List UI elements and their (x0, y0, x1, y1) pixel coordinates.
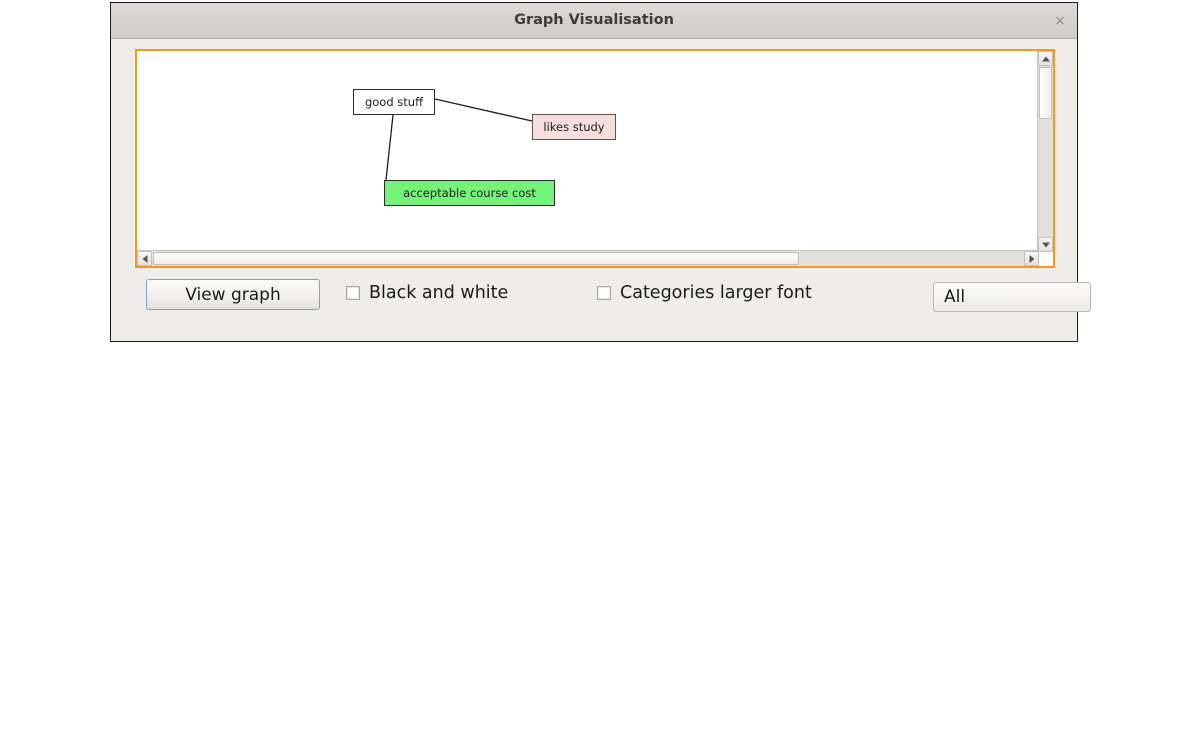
controls-bar: View graph Black and white Categories la… (111, 273, 1077, 319)
black-and-white-checkbox[interactable]: Black and white (346, 283, 508, 303)
vertical-scroll-thumb[interactable] (1039, 67, 1052, 119)
scroll-up-arrow-icon[interactable] (1038, 51, 1053, 66)
category-filter-select[interactable]: All (933, 282, 1091, 312)
triangle-down-glyph (1042, 242, 1050, 247)
graph-node-acceptable-course-cost[interactable]: acceptable course cost (384, 180, 555, 206)
triangle-left-glyph (142, 255, 147, 263)
graph-node-likes-study[interactable]: likes study (532, 114, 616, 140)
black-and-white-label: Black and white (369, 283, 508, 303)
graph-canvas-frame: good stufflikes studyacceptable course c… (135, 49, 1055, 268)
triangle-right-glyph (1029, 255, 1034, 263)
triangle-up-glyph (1042, 56, 1050, 61)
graph-visualisation-window: Graph Visualisation × good stufflikes st… (110, 2, 1078, 342)
window-titlebar: Graph Visualisation × (111, 3, 1077, 39)
scroll-right-arrow-icon[interactable] (1024, 251, 1039, 266)
close-icon[interactable]: × (1051, 12, 1069, 30)
checkbox-box-icon[interactable] (597, 286, 611, 300)
graph-node-good-stuff[interactable]: good stuff (353, 89, 435, 115)
horizontal-scroll-thumb[interactable] (153, 252, 799, 265)
screen-root: Graph Visualisation × good stufflikes st… (0, 0, 1190, 732)
vertical-scrollbar[interactable] (1037, 51, 1053, 252)
categories-larger-font-label: Categories larger font (620, 283, 812, 303)
view-graph-button[interactable]: View graph (146, 279, 320, 310)
graph-edge-good-stuff-to-likes-study (435, 99, 532, 121)
scroll-left-arrow-icon[interactable] (137, 251, 152, 266)
scroll-down-arrow-icon[interactable] (1038, 237, 1053, 252)
horizontal-scrollbar[interactable] (137, 250, 1039, 266)
categories-larger-font-checkbox[interactable]: Categories larger font (597, 283, 812, 303)
graph-edge-good-stuff-to-acceptable-course-cost (386, 115, 393, 180)
graph-canvas[interactable]: good stufflikes studyacceptable course c… (137, 51, 1039, 252)
checkbox-box-icon[interactable] (346, 286, 360, 300)
graph-edges-layer (137, 51, 1039, 252)
window-title: Graph Visualisation (111, 12, 1077, 28)
